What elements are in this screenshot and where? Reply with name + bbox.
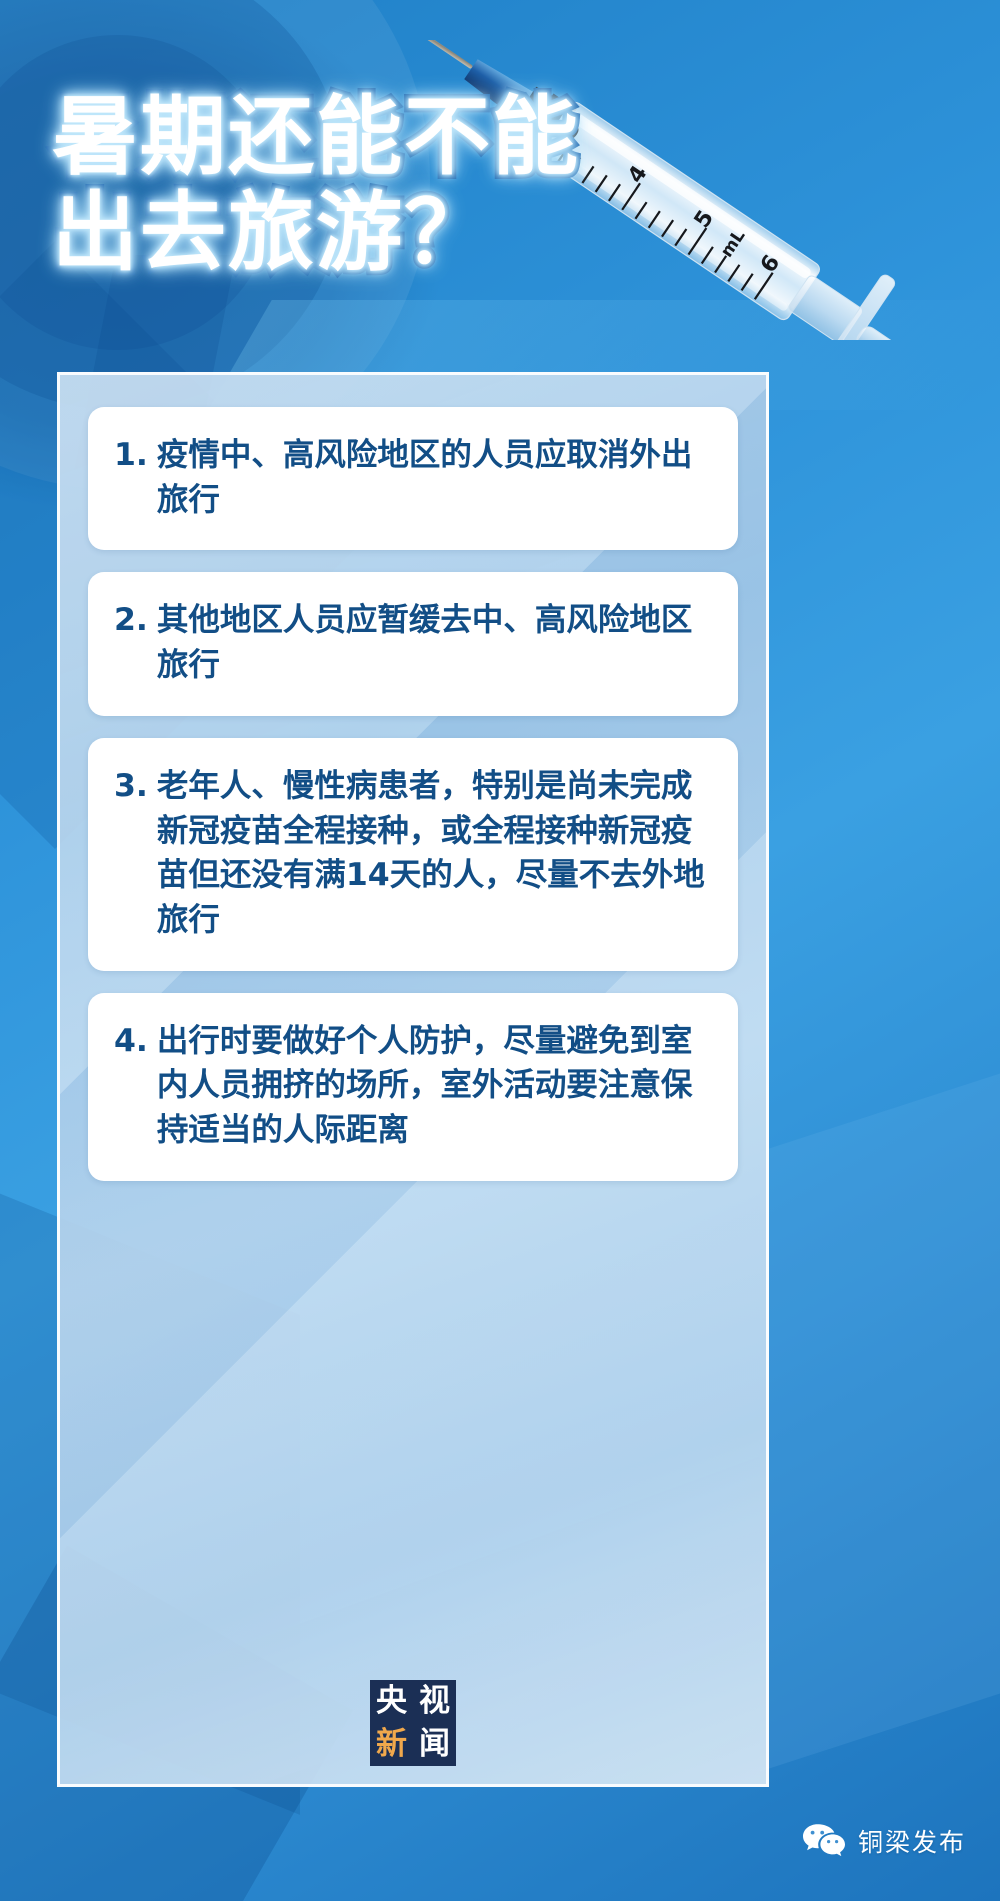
logo-char-4: 闻 <box>419 1729 450 1760</box>
list-item: 4. 出行时要做好个人防护，尽量避免到室内人员拥挤的场所，室外活动要注意保持适当… <box>88 993 738 1181</box>
wechat-account-name: 铜梁发布 <box>858 1823 966 1859</box>
logo-char-3: 新 <box>376 1729 407 1760</box>
list-item-text: 老年人、慢性病患者，特别是尚未完成新冠疫苗全程接种，或全程接种新冠疫苗但还没有满… <box>157 764 712 943</box>
logo-char-1: 央 <box>376 1686 407 1717</box>
list-item-number: 2. <box>114 598 148 643</box>
svg-text:4: 4 <box>623 161 652 188</box>
footer-account: 铜梁发布 <box>802 1823 966 1859</box>
list-item-text: 疫情中、高风险地区的人员应取消外出旅行 <box>157 433 712 522</box>
svg-text:6: 6 <box>756 251 785 278</box>
poster-root: 3 4 5 mL 6 暑期还能不能 出去旅游？ 1. 疫情中、高风险地区的人员应… <box>0 0 1000 1901</box>
list-item: 1. 疫情中、高风险地区的人员应取消外出旅行 <box>88 407 738 550</box>
advice-card-list: 1. 疫情中、高风险地区的人员应取消外出旅行 2. 其他地区人员应暂缓去中、高风… <box>60 375 766 1181</box>
wechat-icon <box>802 1823 846 1859</box>
svg-text:mL: mL <box>717 226 750 261</box>
decor-diagonal-3 <box>760 1009 1000 1772</box>
list-item-number: 3. <box>114 764 148 809</box>
svg-text:5: 5 <box>690 206 719 233</box>
list-item-text: 出行时要做好个人防护，尽量避免到室内人员拥挤的场所，室外活动要注意保持适当的人际… <box>157 1019 712 1153</box>
list-item: 3. 老年人、慢性病患者，特别是尚未完成新冠疫苗全程接种，或全程接种新冠疫苗但还… <box>88 738 738 971</box>
cctv-news-logo: 央 视 新 闻 <box>370 1680 456 1766</box>
page-title: 暑期还能不能 出去旅游？ <box>52 92 580 279</box>
list-item-number: 1. <box>114 433 148 478</box>
title-line-1: 暑期还能不能 <box>52 92 580 182</box>
content-panel: 1. 疫情中、高风险地区的人员应取消外出旅行 2. 其他地区人员应暂缓去中、高风… <box>57 372 769 1787</box>
title-line-2: 出去旅游？ <box>52 188 580 278</box>
list-item-number: 4. <box>114 1019 148 1064</box>
list-item-text: 其他地区人员应暂缓去中、高风险地区旅行 <box>157 598 712 687</box>
list-item: 2. 其他地区人员应暂缓去中、高风险地区旅行 <box>88 572 738 715</box>
logo-char-2: 视 <box>419 1686 450 1717</box>
